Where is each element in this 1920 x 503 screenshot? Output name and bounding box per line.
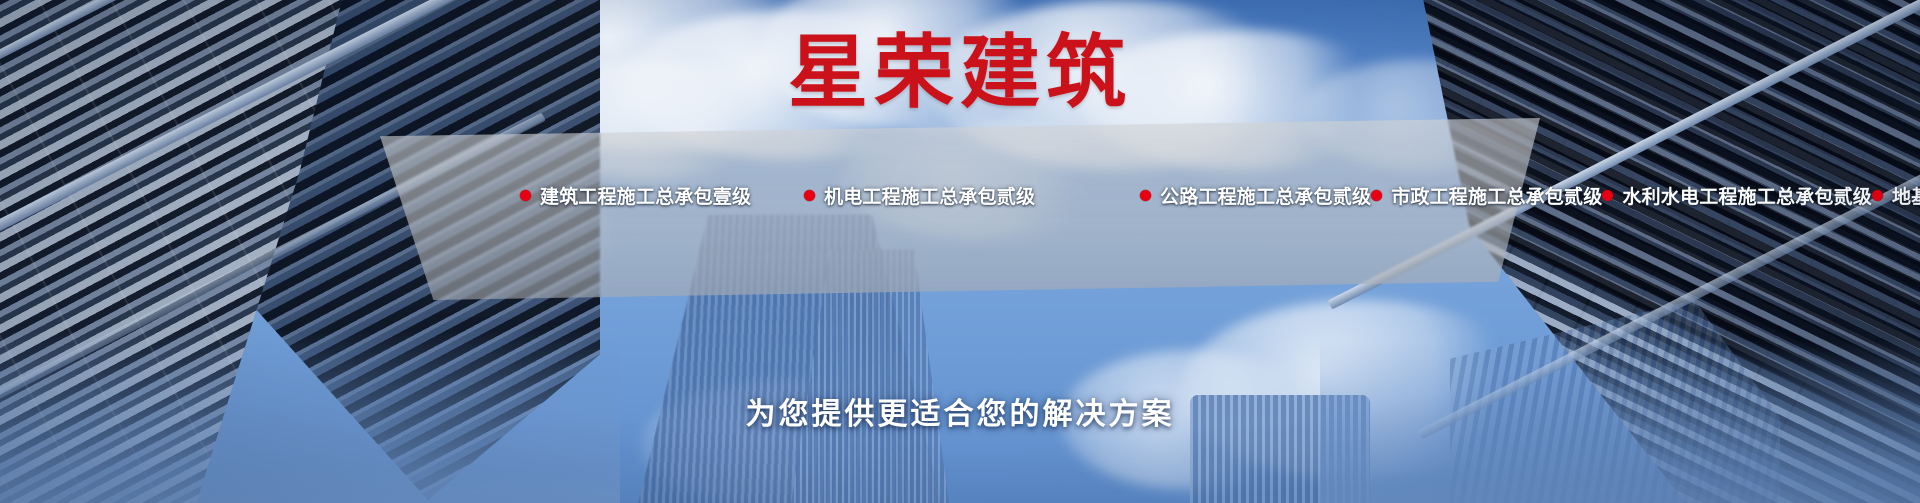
qualification-label: 建筑工程施工总承包壹级: [540, 182, 751, 209]
bullet-dot-icon: [804, 190, 815, 201]
company-title: 星荣建筑: [0, 33, 1920, 113]
banner-tagline: 为您提供更适合您的解决方案: [0, 389, 1920, 433]
qualification-item: 市政工程施工总承包贰级: [1371, 182, 1602, 209]
bullet-dot-icon: [1602, 190, 1613, 201]
qualification-item: 公路工程施工总承包贰级: [1140, 182, 1371, 209]
qualification-label: 地基基础工程专业承包壹级: [1892, 182, 1920, 209]
bullet-dot-icon: [1872, 190, 1883, 201]
bullet-dot-icon: [1140, 190, 1151, 201]
bullet-dot-icon: [520, 190, 531, 201]
bullet-dot-icon: [1371, 190, 1382, 201]
qualification-list: 建筑工程施工总承包壹级 机电工程施工总承包贰级 公路工程施工总承包贰级 市政工程…: [520, 180, 1500, 210]
qualification-label: 公路工程施工总承包贰级: [1160, 182, 1371, 209]
qualification-item: 地基基础工程专业承包壹级: [1872, 182, 1920, 209]
qualification-item: 机电工程施工总承包贰级: [804, 182, 1140, 209]
qualification-label: 机电工程施工总承包贰级: [824, 182, 1035, 209]
qualification-item: 建筑工程施工总承包壹级: [520, 182, 804, 209]
qualification-label: 市政工程施工总承包贰级: [1391, 182, 1602, 209]
hero-banner: 星荣建筑 建筑工程施工总承包壹级 机电工程施工总承包贰级 公路工程施工总承包贰级…: [0, 0, 1920, 503]
qualification-item: 水利水电工程施工总承包贰级: [1602, 182, 1872, 209]
qualification-label: 水利水电工程施工总承包贰级: [1622, 182, 1872, 209]
